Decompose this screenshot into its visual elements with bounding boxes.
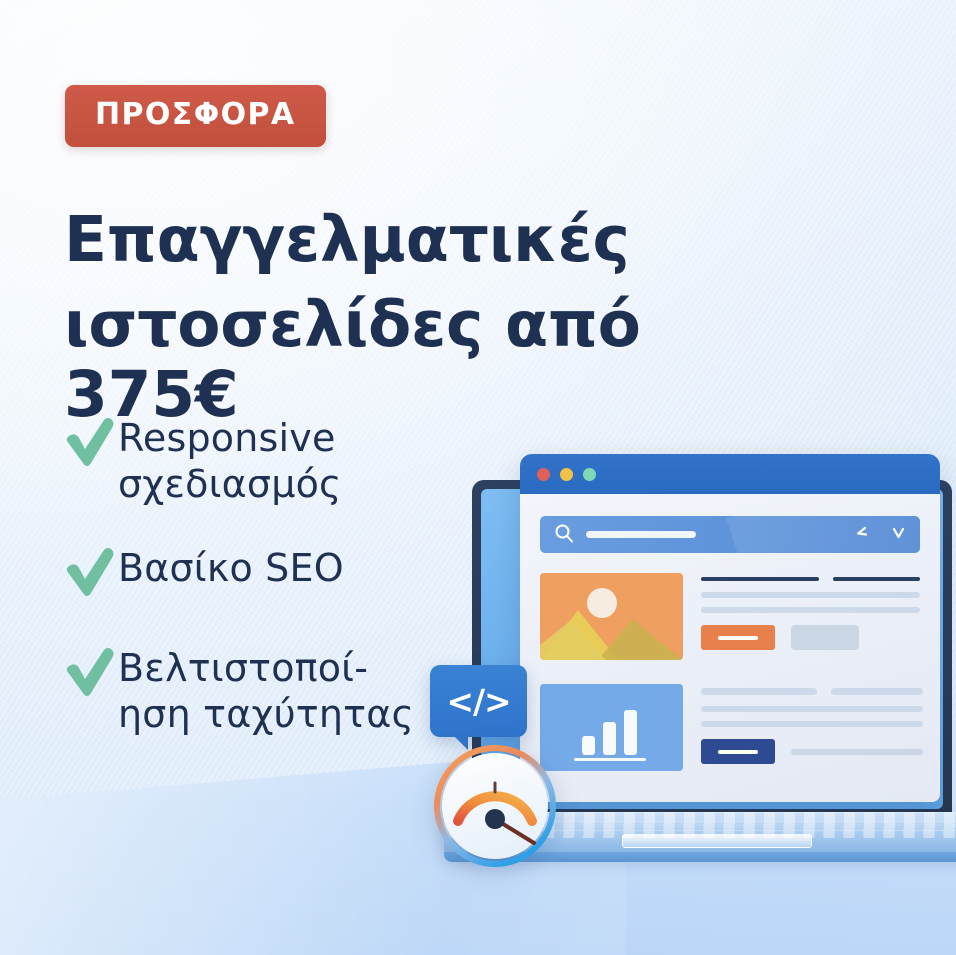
search-icon [554, 523, 574, 547]
check-icon [62, 417, 118, 469]
list-item-label: Βελτιστοποί- ηση ταχύτητας [118, 645, 414, 738]
list-item: Βασίκο SEO [62, 545, 482, 599]
list-item: Βελτιστοποί- ηση ταχύτητας [62, 645, 482, 738]
primary-cta-button[interactable] [701, 625, 775, 650]
card-actions [701, 739, 923, 764]
trackpad [622, 834, 812, 848]
chevron-down-icon[interactable] [891, 525, 906, 544]
browser-window [520, 454, 940, 802]
card-actions [701, 625, 920, 650]
search-actions [854, 525, 906, 544]
check-icon [62, 547, 118, 599]
close-dot-icon[interactable] [537, 468, 550, 481]
minimize-dot-icon[interactable] [560, 468, 573, 481]
text-bar [701, 706, 923, 712]
heading-bar [701, 577, 819, 581]
speedometer-icon [434, 745, 556, 867]
headline-line-2: ιστοσελίδες από 375€ [64, 290, 784, 431]
chevron-left-icon[interactable] [854, 525, 869, 544]
feature-2-line-1: Βασίκο SEO [118, 545, 344, 591]
feature-1-line-1: Responsive [118, 415, 342, 461]
code-icon: </> [430, 665, 527, 737]
feature-3-line-1: Βελτιστοποί- [118, 645, 414, 691]
inline-bar [791, 749, 923, 755]
content-card [540, 573, 920, 660]
navy-cta-button[interactable] [701, 739, 775, 764]
search-bar[interactable] [540, 516, 920, 553]
bar-chart-placeholder-icon [540, 684, 683, 771]
text-bar [701, 721, 923, 727]
page-title: Επαγγελματικές ιστοσελίδες από 375€ [64, 205, 784, 431]
browser-content [520, 494, 940, 802]
feature-list: Responsive σχεδιασμός Βασίκο SEO Βελτιστ [62, 415, 482, 774]
list-item-label: Βασίκο SEO [118, 545, 344, 591]
text-bar [701, 607, 920, 613]
image-placeholder-icon [540, 573, 683, 660]
maximize-dot-icon[interactable] [583, 468, 596, 481]
card-text-block [701, 684, 923, 771]
content-card [540, 684, 920, 771]
secondary-cta-button[interactable] [791, 625, 859, 650]
text-bar [701, 592, 920, 598]
feature-1-line-2: σχεδιασμός [118, 461, 342, 507]
feature-3-line-2: ηση ταχύτητας [118, 691, 414, 737]
heading-bar [701, 688, 817, 695]
browser-titlebar [520, 454, 940, 494]
check-icon [62, 647, 118, 699]
card-text-block [701, 573, 920, 660]
list-item: Responsive σχεδιασμός [62, 415, 482, 508]
search-input[interactable] [586, 531, 696, 538]
heading-bars [701, 688, 923, 695]
offer-badge[interactable]: ΠΡΟΣΦΟΡΑ [65, 85, 326, 147]
heading-bars [701, 577, 920, 581]
promo-poster: ΠΡΟΣΦΟΡΑ Επαγγελματικές ιστοσελίδες από … [0, 0, 956, 955]
heading-bar [831, 688, 923, 695]
headline-line-1: Επαγγελματικές [64, 203, 630, 276]
list-item-label: Responsive σχεδιασμός [118, 415, 342, 508]
heading-bar [833, 577, 920, 581]
